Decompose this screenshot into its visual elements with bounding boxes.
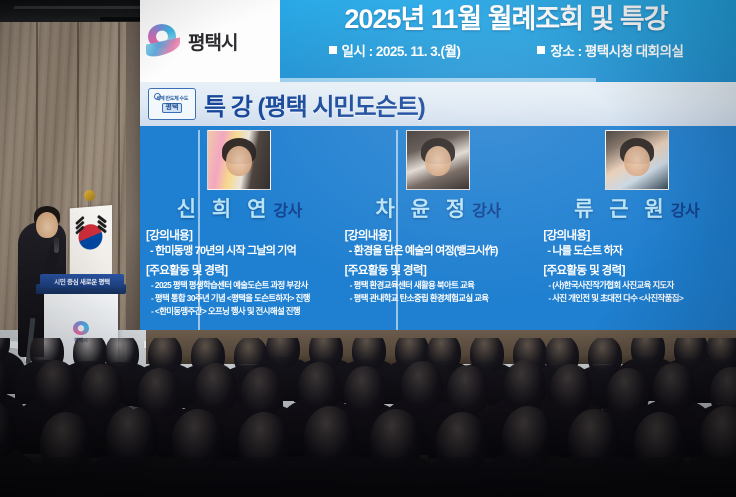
bullet-square-icon — [537, 46, 545, 54]
audience-head — [504, 360, 546, 410]
speaker-photo — [605, 130, 669, 190]
podium-slogan-banner: 시민 중심 새로운 평택 — [40, 274, 124, 288]
lecture-subtitle: 특 강 (평택 시민도슨트) — [204, 87, 425, 122]
slide-title-block: 2025년 11월 월례조회 및 특강 일시 : 2025. 11. 3.(월)… — [280, 0, 736, 82]
audience-head — [195, 363, 237, 413]
career-heading: [주요활동 및 경력] — [146, 264, 333, 279]
slide-place-item: 장소 : 평택시청 대회의실 — [537, 40, 683, 60]
speaker-role: 강사 — [273, 203, 301, 220]
career-section: [주요활동 및 경력] - 평택 환경교육센터 새활용 북아트 교육 - 평택 … — [345, 264, 532, 305]
career-line: - 사진 개인전 및 초대전 다수 <사진작품집> — [543, 292, 730, 305]
career-section: [주요활동 및 경력] - 2025 평택 평생학습센터 예술도슨트 과정 부강… — [146, 264, 333, 318]
career-heading: [주요활동 및 경력] — [345, 264, 532, 279]
speaker-panel: 신 희 연강사 [강의내용] - 한미동맹 70년의 시작 그날의 기억 [주요… — [140, 126, 339, 336]
speaker-name-row: 류 근 원강사 — [543, 198, 730, 224]
city-logo-label: 평택시 — [188, 28, 237, 55]
slide-date-label: 일시 : 2025. 11. 3.(월) — [342, 40, 461, 60]
speaker-photo — [207, 130, 271, 190]
audience-head — [266, 338, 300, 368]
audience-head — [344, 366, 386, 416]
bullet-square-icon — [329, 46, 337, 54]
presenter-head — [36, 212, 58, 238]
audience-head — [298, 362, 340, 412]
content-heading: [강의내용] — [543, 229, 730, 244]
speaker-photo — [406, 130, 470, 190]
career-line: - 평택 통합 30주년 기념 <평택을 도슨트하자> 진행 — [146, 292, 333, 305]
career-line: - 평택 환경교육센터 새활용 북아트 교육 — [345, 279, 532, 292]
audience-head — [352, 338, 386, 370]
speaker-name: 류 근 원 — [574, 198, 669, 221]
speaker-role: 강사 — [671, 203, 699, 220]
projection-screen: 평택시 2025년 11월 월례조회 및 특강 일시 : 2025. 11. 3… — [140, 0, 736, 336]
audience-head — [706, 338, 736, 370]
career-section: [주요활동 및 경력] - (사)한국사진작가협회 사진교육 지도자 - 사진 … — [543, 264, 730, 305]
slide-date-item: 일시 : 2025. 11. 3.(월) — [329, 40, 461, 60]
wall-seam — [118, 22, 120, 352]
speaker-panels: 신 희 연강사 [강의내용] - 한미동맹 70년의 시작 그날의 기억 [주요… — [140, 126, 736, 336]
slide-place-label: 장소 : 평택시청 대회의실 — [550, 40, 683, 60]
pyeongtaek-swirl-logo-icon — [146, 24, 182, 58]
event-photo-scene: 평택시 2025년 11월 월례조회 및 특강 일시 : 2025. 11. 3… — [0, 0, 736, 497]
audience-head — [241, 367, 283, 417]
audience-head — [81, 364, 123, 414]
speaker-panel: 차 윤 정강사 [강의내용] - 환경을 담은 예술의 여정(뱅크시作) [주요… — [339, 126, 538, 336]
content-line: - 한미동맹 70년의 시작 그날의 기억 — [146, 244, 333, 259]
audience-head — [35, 360, 77, 410]
career-line: - 평택 관내학교 탄소중립 환경체험교실 교육 — [345, 292, 532, 305]
panel-divider — [396, 130, 398, 336]
speaker-name: 차 윤 정 — [375, 198, 470, 221]
career-line: - (사)한국사진작가협회 사진교육 지도자 — [543, 279, 730, 292]
audience — [0, 338, 736, 497]
lecture-content-section: [강의내용] - 나를 도슨트 하자 — [543, 229, 730, 259]
content-heading: [강의내용] — [345, 229, 532, 244]
speaker-panel: 류 근 원강사 [강의내용] - 나를 도슨트 하자 [주요활동 및 경력] -… — [537, 126, 736, 336]
microphone-icon — [54, 237, 59, 253]
semiconductor-capital-badge-icon: 세계 반도체 수도 평택 — [148, 88, 196, 120]
badge-line2: 평택 — [162, 103, 183, 113]
speaker-name-row: 차 윤 정강사 — [345, 198, 532, 224]
career-heading: [주요활동 및 경력] — [543, 264, 730, 279]
audience-head — [631, 338, 665, 368]
content-line: - 환경을 담은 예술의 여정(뱅크시作) — [345, 244, 532, 259]
audience-head — [401, 361, 443, 411]
career-line: - <한미동맹주간> 오프닝 행사 및 전시해설 진행 — [146, 305, 333, 318]
career-line: - 2025 평택 평생학습센터 예술도슨트 과정 부강사 — [146, 279, 333, 292]
lecture-subtitle-bar: 세계 반도체 수도 평택 특 강 (평택 시민도슨트) — [140, 82, 736, 126]
audience-head — [447, 365, 489, 415]
content-heading: [강의내용] — [146, 229, 333, 244]
speaker-role: 강사 — [472, 203, 500, 220]
lecture-content-section: [강의내용] - 한미동맹 70년의 시작 그날의 기억 — [146, 229, 333, 259]
audience-head — [550, 364, 592, 414]
panel-divider — [198, 130, 200, 336]
flag-finial — [84, 190, 95, 201]
content-line: - 나를 도슨트 하자 — [543, 244, 730, 259]
slide-title: 2025년 11월 월례조회 및 특강 — [286, 2, 726, 36]
lecture-content-section: [강의내용] - 환경을 담은 예술의 여정(뱅크시作) — [345, 229, 532, 259]
title-underline — [140, 78, 596, 82]
audience-head — [653, 363, 695, 413]
speaker-name-row: 신 희 연강사 — [146, 198, 333, 224]
podium-slogan-text: 시민 중심 새로운 평택 — [54, 276, 110, 286]
slide-meta-row: 일시 : 2025. 11. 3.(월) 장소 : 평택시청 대회의실 — [286, 40, 726, 60]
audience-foreground-shadow — [0, 457, 736, 497]
city-logo-block: 평택시 — [140, 0, 280, 82]
slide-header: 평택시 2025년 11월 월례조회 및 특강 일시 : 2025. 11. 3… — [140, 0, 736, 82]
speaker-name: 신 희 연 — [177, 198, 272, 221]
